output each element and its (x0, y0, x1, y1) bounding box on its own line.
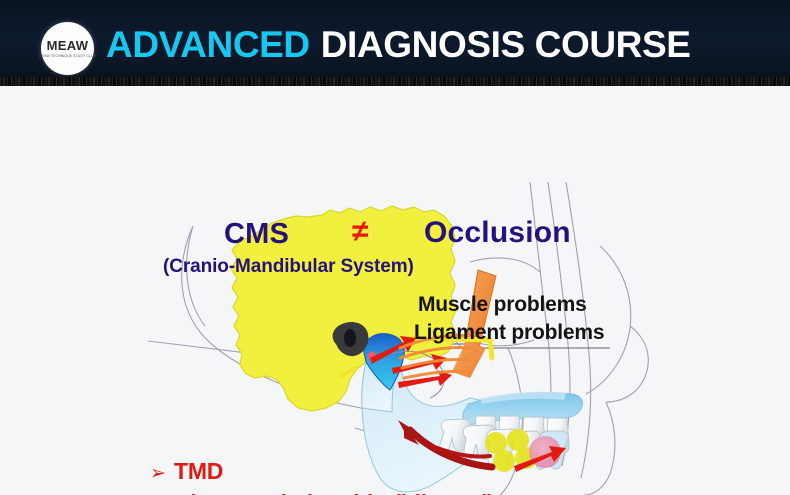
list-item: ➢ TMD (150, 458, 495, 484)
annotation-ligament-problems: Ligament problems (414, 321, 604, 345)
annotation-muscle-problems: Muscle problems (418, 293, 587, 317)
cranio-mandibular-system-diagram (0, 86, 790, 495)
cms-expansion-label: (Cranio-Mandibular System) (163, 256, 414, 278)
header-bar: MEAW MEAW TECHNIQUE STUDY CLUB ADVANCED … (0, 0, 790, 86)
cms-label: CMS (224, 218, 289, 251)
title-diagnosis-course: DIAGNOSIS COURSE (321, 24, 691, 66)
logo-label: MEAW (47, 39, 89, 52)
slide-body: CMS ≠ Occlusion (Cranio-Mandibular Syste… (0, 86, 790, 495)
meaw-logo: MEAW MEAW TECHNIQUE STUDY CLUB (41, 22, 94, 75)
list-item: ➢ Class II relationship (bilateral) (150, 490, 495, 495)
finding-tmd: TMD (174, 458, 223, 485)
contact-marker-yellow-3 (493, 450, 515, 472)
header-bottom-texture (0, 77, 790, 86)
findings-list: ➢ TMD ➢ Class II relationship (bilateral… (150, 458, 495, 495)
page-title: ADVANCED DIAGNOSIS COURSE (106, 19, 691, 71)
ear-canal-inner (344, 329, 356, 347)
logo-subtitle: MEAW TECHNIQUE STUDY CLUB (39, 54, 96, 58)
occlusion-label: Occlusion (424, 216, 571, 250)
arrow-bullet-icon: ➢ (150, 464, 174, 483)
slide-root: MEAW MEAW TECHNIQUE STUDY CLUB ADVANCED … (0, 0, 790, 495)
not-equal-icon: ≠ (352, 215, 368, 249)
finding-class-ii: Class II relationship (bilateral) (174, 490, 495, 495)
title-advanced: ADVANCED (106, 24, 310, 66)
